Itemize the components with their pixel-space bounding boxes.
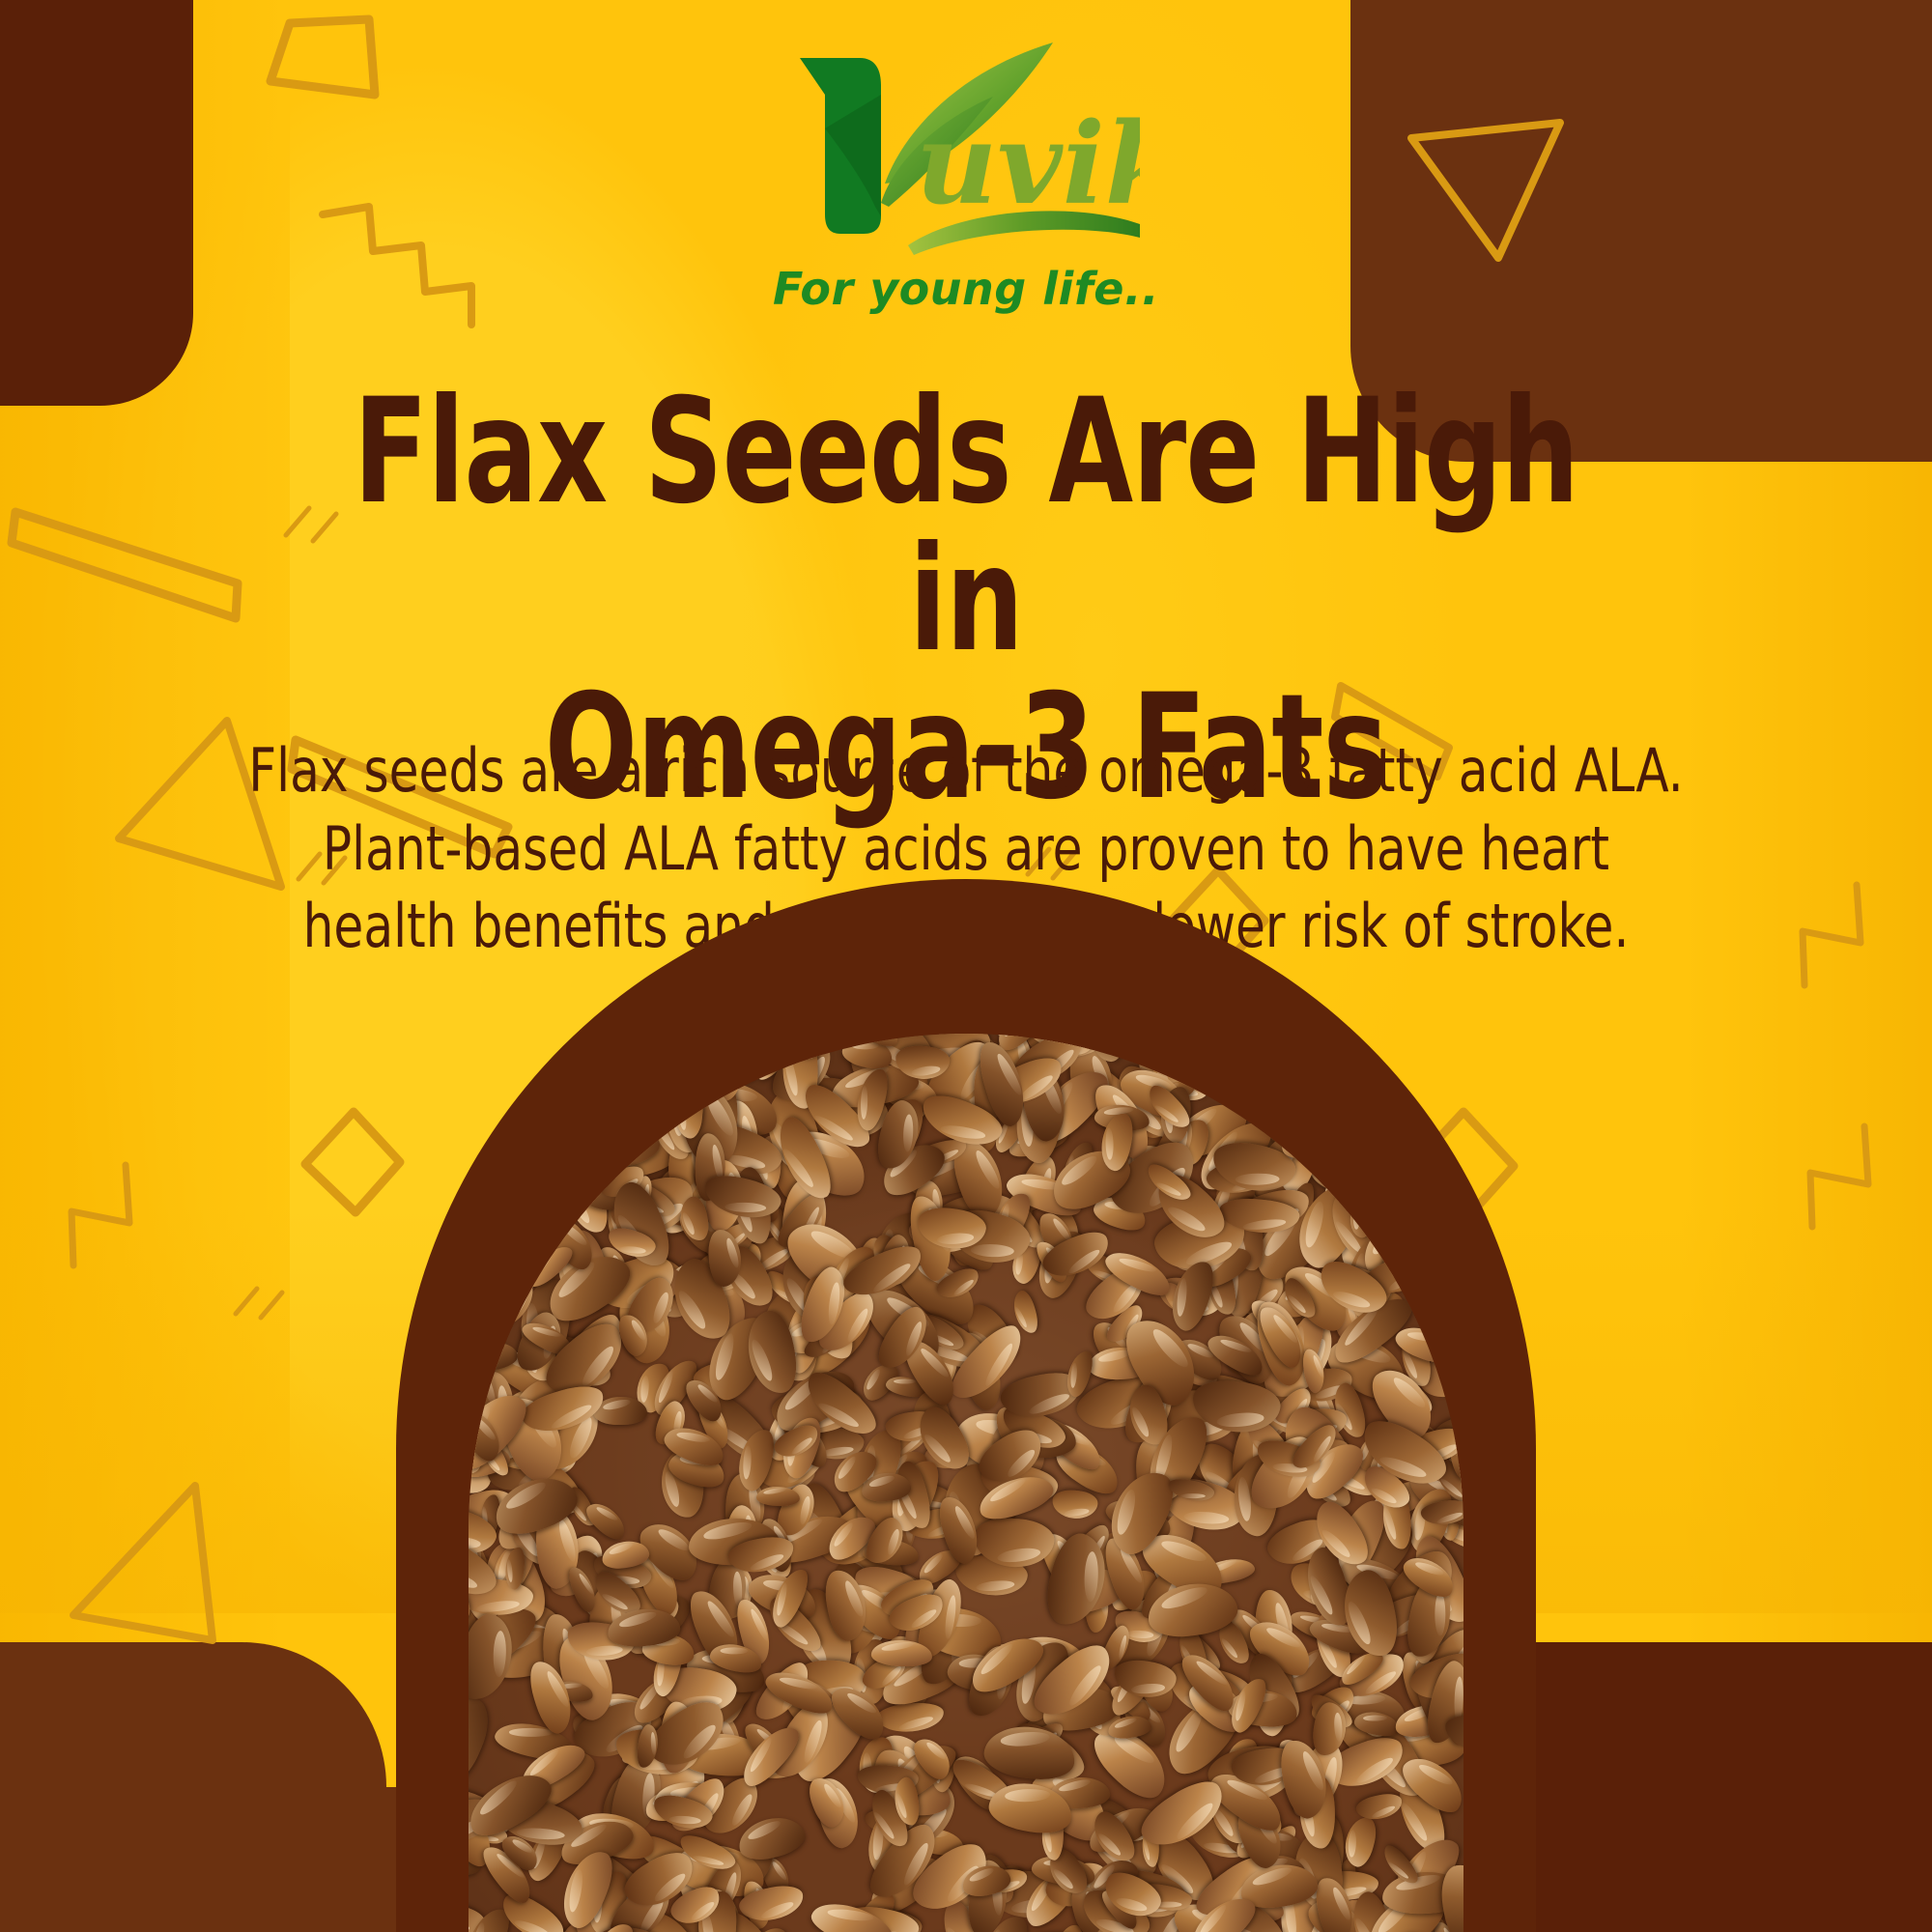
body-line-2: Plant-based ALA fatty acids are proven t… xyxy=(227,810,1705,889)
corner-block-bottom-left xyxy=(0,1642,386,1932)
body-line-1: Flax seeds are a rich source of the omeg… xyxy=(227,732,1705,810)
brand-tagline: For young life.. xyxy=(773,263,1159,315)
flax-seeds-photo xyxy=(469,1034,1463,1932)
svg-text:uvika: uvika xyxy=(916,99,1140,230)
brand-logo: uvika For young life.. xyxy=(0,37,1932,315)
seed-texture xyxy=(469,1034,1463,1932)
leaf-sprout-icon: uvika xyxy=(792,37,1140,259)
poster-canvas: uvika For young life.. Flax Seeds Are Hi… xyxy=(0,0,1932,1932)
headline-line-1: Flax Seeds Are High in xyxy=(350,379,1583,674)
